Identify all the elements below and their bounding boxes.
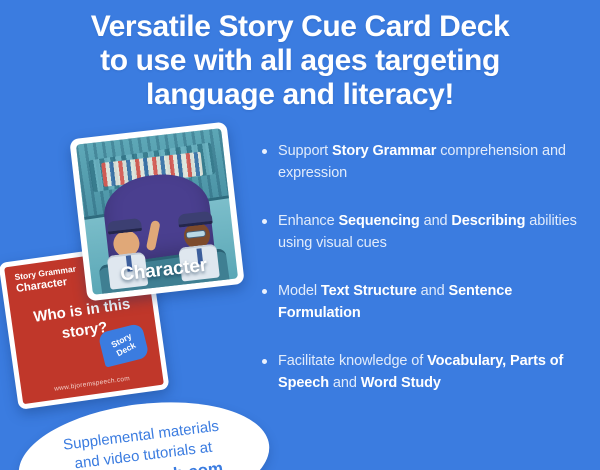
headline-line-1: Versatile Story Cue Card Deck bbox=[18, 10, 582, 44]
feature-text: Support Story Grammar comprehension and … bbox=[278, 140, 592, 184]
bubble-text: Supplemental materials and video tutoria… bbox=[15, 411, 273, 470]
feature-text: Model Text Structure and Sentence Formul… bbox=[278, 280, 592, 324]
headline-line-3: language and literacy! bbox=[18, 78, 582, 112]
list-item: Model Text Structure and Sentence Formul… bbox=[262, 280, 592, 324]
pilot-hat-icon bbox=[178, 211, 213, 228]
bullet-dot-icon bbox=[262, 289, 267, 294]
bullet-dot-icon bbox=[262, 149, 267, 154]
feature-text: Enhance Sequencing and Describing abilit… bbox=[278, 210, 592, 254]
headline-line-2: to use with all ages targeting bbox=[18, 44, 582, 78]
bullet-dot-icon bbox=[262, 359, 267, 364]
list-item: Support Story Grammar comprehension and … bbox=[262, 140, 592, 184]
feature-list: Support Story Grammar comprehension and … bbox=[262, 140, 592, 420]
pilot-hat-icon bbox=[106, 218, 141, 235]
list-item: Enhance Sequencing and Describing abilit… bbox=[262, 210, 592, 254]
card-url: www.bjoremspeech.com bbox=[21, 371, 163, 398]
character-cue-card: Character bbox=[69, 122, 244, 302]
story-deck-badge-label: Story Deck bbox=[109, 331, 137, 358]
feature-text: Facilitate knowledge of Vocabulary, Part… bbox=[278, 350, 592, 394]
promo-poster: Versatile Story Cue Card Deck to use wit… bbox=[0, 0, 600, 470]
list-item: Facilitate knowledge of Vocabulary, Part… bbox=[262, 350, 592, 394]
page-title: Versatile Story Cue Card Deck to use wit… bbox=[0, 10, 600, 112]
card-category: Story Grammar Character bbox=[14, 264, 79, 297]
bullet-dot-icon bbox=[262, 219, 267, 224]
